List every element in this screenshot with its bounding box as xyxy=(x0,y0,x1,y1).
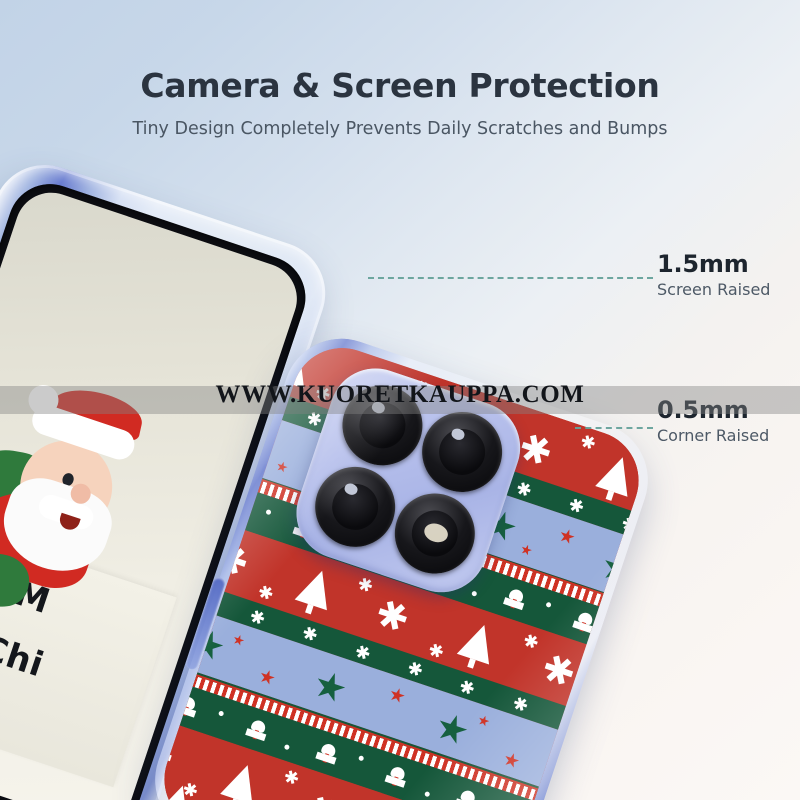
product-marketing-image: Camera & Screen Protection Tiny Design C… xyxy=(0,0,800,800)
callout-corner-caption: Corner Raised xyxy=(657,427,769,445)
ultrawide-lens xyxy=(411,401,512,502)
callout-screen-raised: 1.5mm Screen Raised xyxy=(657,252,770,299)
flash-lens xyxy=(384,483,485,584)
telephoto-lens xyxy=(305,456,406,557)
callout-screen-value: 1.5mm xyxy=(657,252,770,277)
page-title: Camera & Screen Protection xyxy=(0,0,800,105)
watermark-text: WWW.KUORETKAUPPA.COM xyxy=(0,381,800,409)
callout-screen-caption: Screen Raised xyxy=(657,281,770,299)
leader-line-screen-raised xyxy=(368,277,653,279)
header-block: Camera & Screen Protection Tiny Design C… xyxy=(0,0,800,139)
leader-line-corner-raised xyxy=(575,427,653,429)
page-subtitle: Tiny Design Completely Prevents Daily Sc… xyxy=(0,105,800,139)
